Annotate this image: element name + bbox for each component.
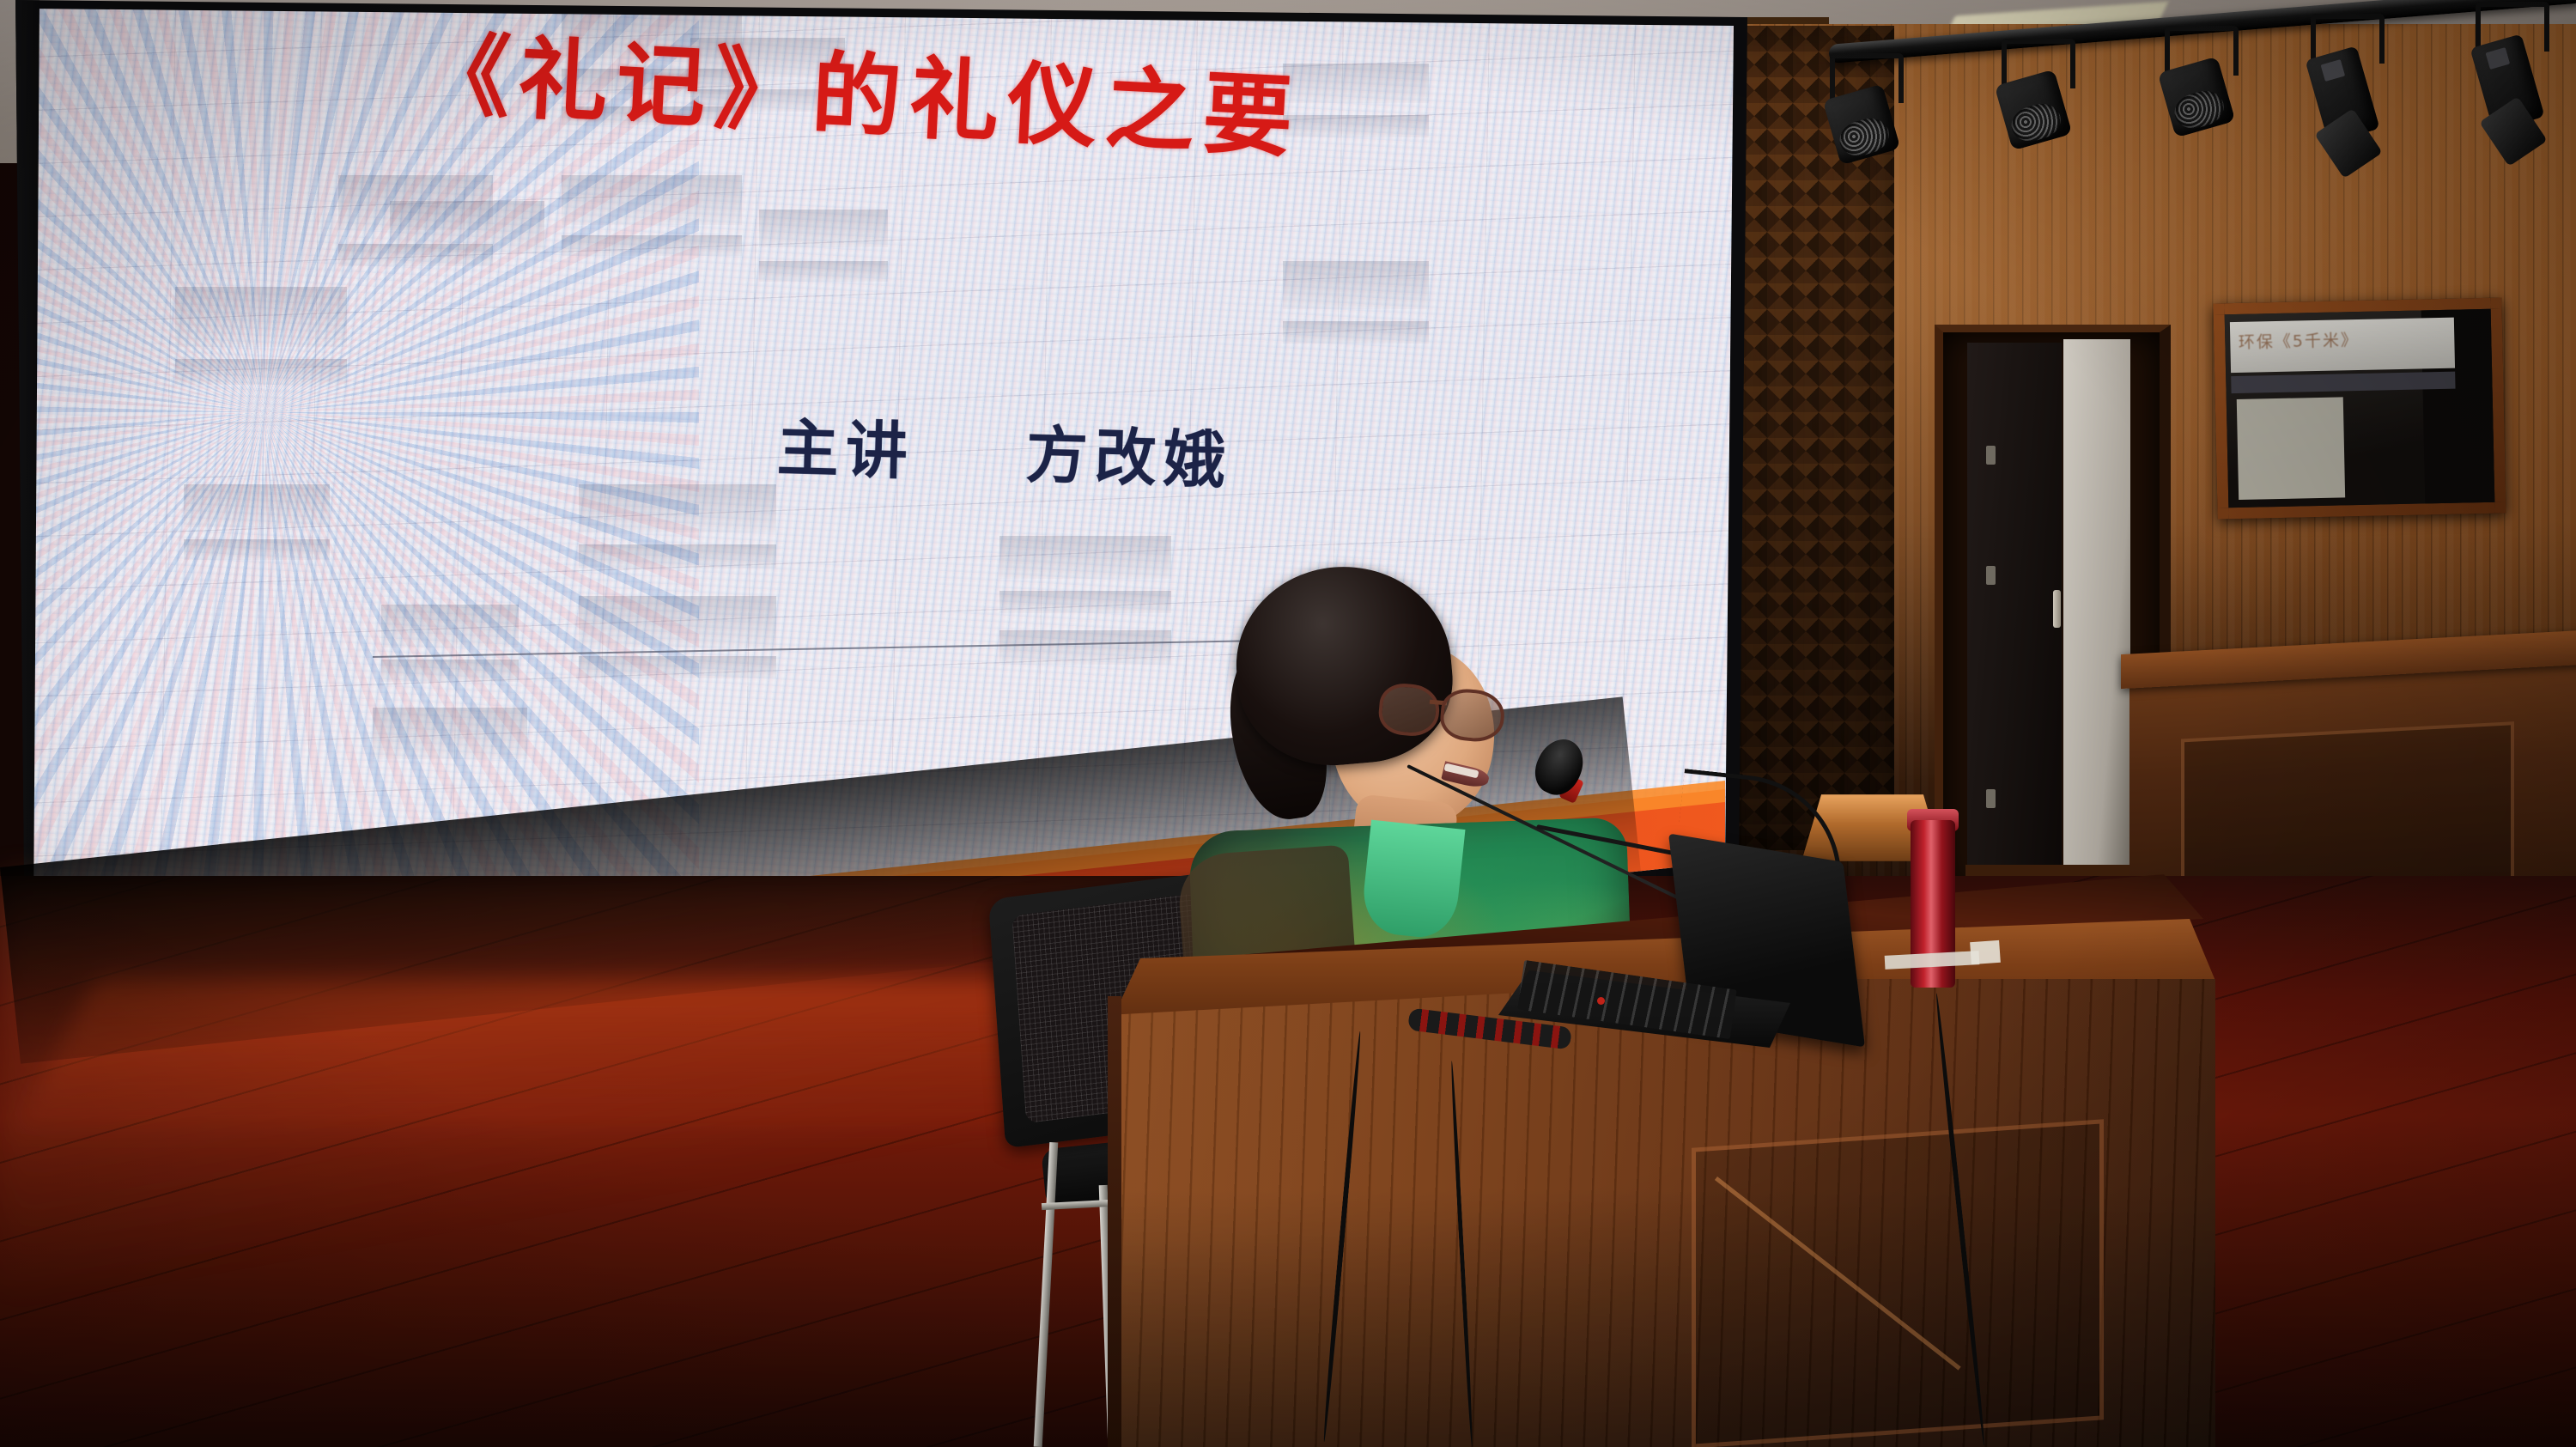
door-handle[interactable] xyxy=(2053,590,2061,628)
corridor-wall xyxy=(2063,339,2130,872)
door-hinge-icon xyxy=(1986,566,1996,585)
light-display-panel-icon xyxy=(2486,47,2511,70)
door-hinge-icon xyxy=(1986,789,1996,808)
door-leaf[interactable] xyxy=(1967,343,2062,879)
laptop-trackpoint-icon xyxy=(1597,997,1605,1005)
window-sign-text: 环保《5千米》 xyxy=(2239,325,2426,353)
slide-subtitle-name: 方改娥 xyxy=(1025,419,1233,497)
glasses-lens-left xyxy=(1377,682,1442,739)
interior-window-frame: 环保《5千米》 xyxy=(2213,298,2506,520)
paper-slip-small xyxy=(1970,940,2001,964)
desk-inset-frame xyxy=(1692,1119,2104,1447)
slide-subtitle: 主讲方改娥 xyxy=(776,398,1234,501)
slide-subtitle-role: 主讲 xyxy=(776,412,915,488)
glasses-icon xyxy=(1377,682,1508,743)
desk-left-edge xyxy=(1108,996,1121,1447)
door-hinge-icon xyxy=(1986,446,1996,465)
lecture-hall-scene: 环保《5千米》 xyxy=(0,0,2576,1447)
light-display-panel-icon xyxy=(2321,59,2346,82)
glasses-lens-right xyxy=(1438,687,1506,744)
window-paper-sheet xyxy=(2237,397,2345,500)
